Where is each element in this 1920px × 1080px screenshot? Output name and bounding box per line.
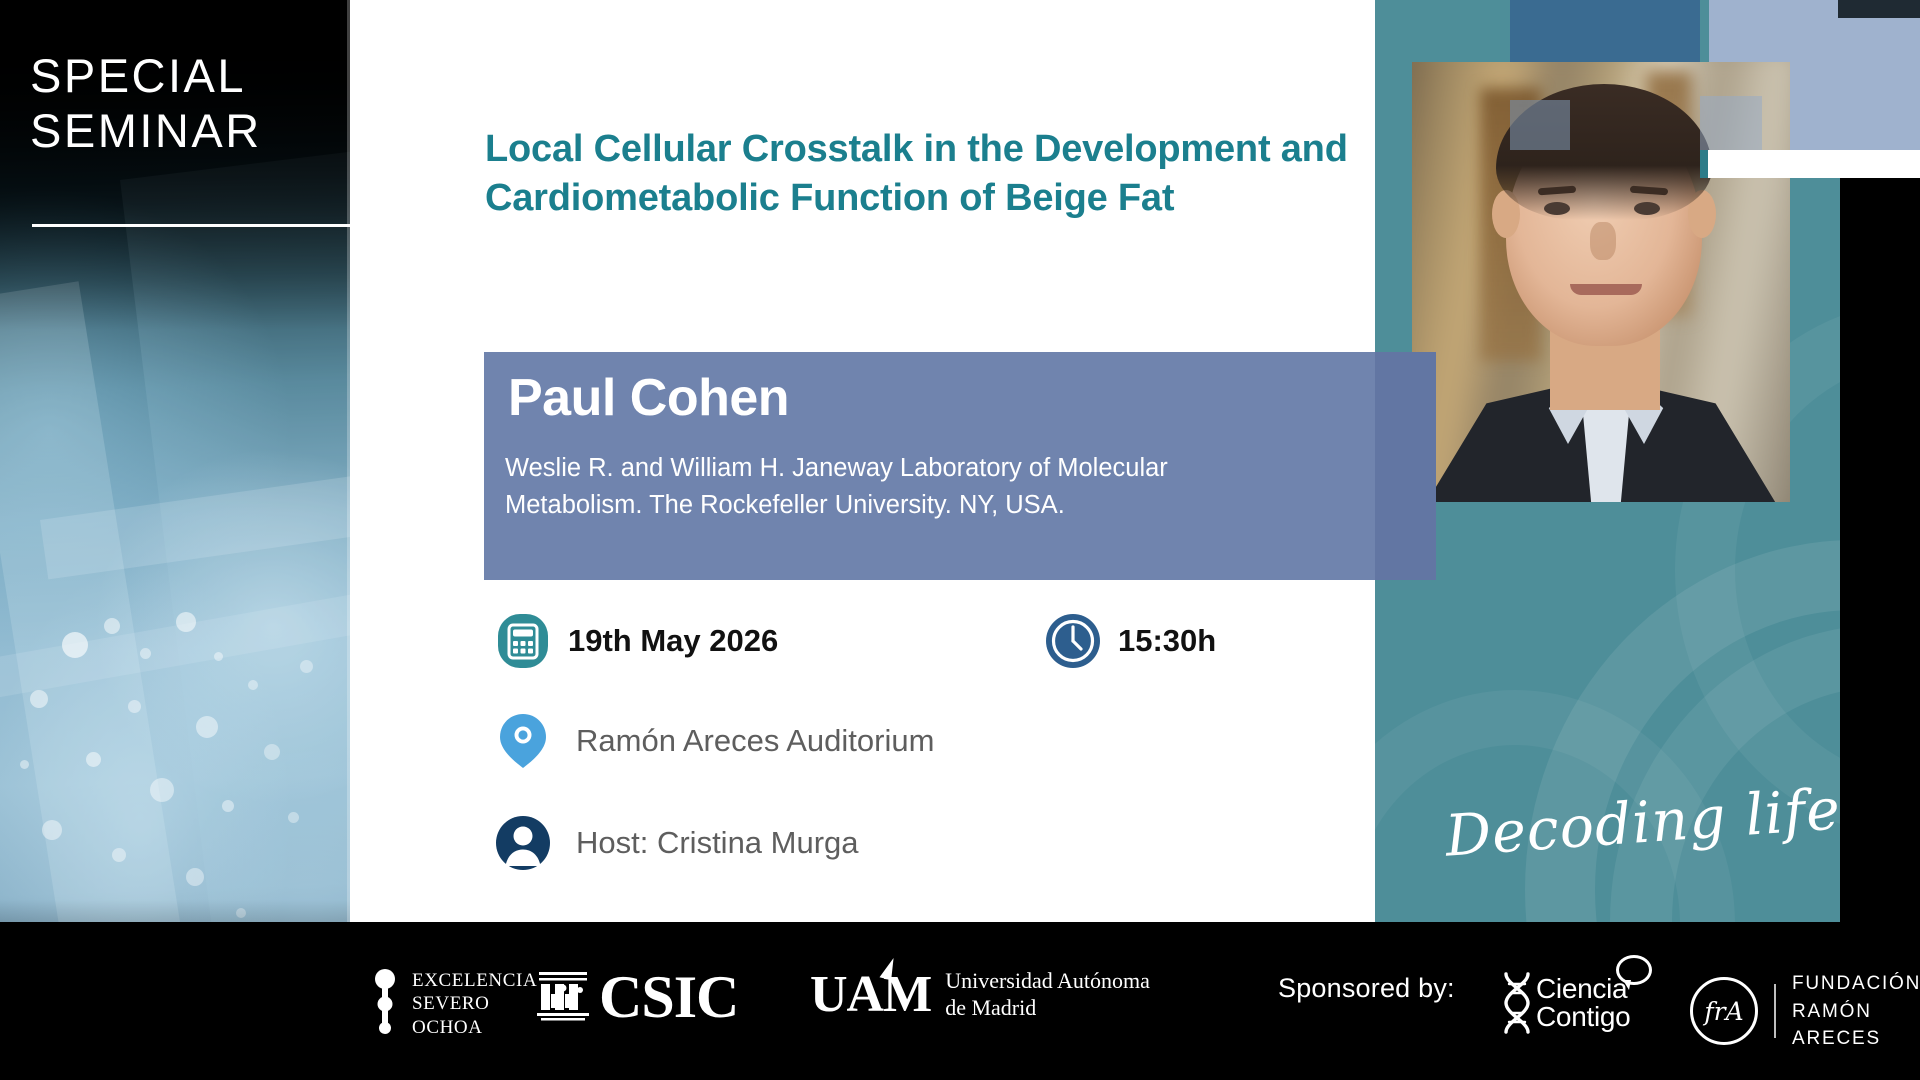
kicker-line-1: SPECIAL [30, 48, 330, 103]
portrait-nose [1590, 222, 1616, 260]
seminar-poster: SPECIAL SEMINAR CBM Severo Ochoa [0, 0, 1920, 1080]
detail-row-host: Host: Cristina Murga [492, 812, 859, 874]
portrait-eye [1544, 202, 1570, 215]
ciencia-line-2: Contigo [1536, 1003, 1630, 1031]
person-icon [492, 812, 554, 874]
fra-divider [1774, 984, 1776, 1038]
seminar-date: 19th May 2026 [568, 623, 778, 659]
corner-block-dark [1838, 0, 1920, 18]
corner-overlay-square [1700, 96, 1762, 158]
calendar-icon [492, 610, 554, 672]
corner-overlay-grey [1510, 100, 1570, 150]
severo-line-2: SEVERO [412, 992, 537, 1015]
fra-line-1: FUNDACIÓN [1792, 970, 1920, 998]
csic-crest-icon [535, 966, 591, 1028]
kicker-line-2: SEMINAR [30, 103, 330, 158]
map-pin-icon [492, 710, 554, 772]
clock-icon [1042, 610, 1104, 672]
corner-accent-white [1708, 150, 1920, 178]
sponsored-by-label: Sponsored by: [1278, 973, 1455, 1004]
logo-csic: CSIC [535, 966, 738, 1028]
portrait-mouth [1570, 284, 1642, 295]
footer-divider [350, 0, 353, 158]
seminar-kicker: SPECIAL SEMINAR [30, 48, 330, 159]
speaker-affiliation: Weslie R. and William H. Janeway Laborat… [505, 450, 1305, 523]
speaker-name: Paul Cohen [508, 368, 789, 428]
logo-severo-ochoa: EXCELENCIA SEVERO OCHOA [368, 968, 537, 1040]
seminar-venue: Ramón Areces Auditorium [576, 723, 934, 759]
dna-helix-icon [1500, 972, 1534, 1034]
logo-fundacion-ramon-areces: frA FUNDACIÓN RAMÓN ARECES [1690, 970, 1920, 1053]
seminar-host: Host: Cristina Murga [576, 825, 859, 861]
detail-row-time: 15:30h [1042, 610, 1216, 672]
fra-line-2: RAMÓN ARECES [1792, 998, 1920, 1053]
severo-line-1: EXCELENCIA [412, 969, 537, 992]
uam-line-2: de Madrid [945, 995, 1150, 1022]
logo-ciencia-contigo: Ciencia Contigo [1500, 972, 1630, 1034]
detail-row-venue: Ramón Areces Auditorium [492, 710, 934, 772]
csic-wordmark: CSIC [599, 967, 738, 1027]
kicker-underline [32, 224, 352, 227]
ciencia-line-1: Ciencia [1536, 975, 1630, 1003]
fra-monogram: frA [1690, 977, 1758, 1045]
uam-wordmark-wrap: UAM [810, 969, 931, 1021]
detail-row-date: 19th May 2026 [492, 610, 778, 672]
uam-wordmark: UAM [810, 966, 931, 1023]
seminar-time: 15:30h [1118, 623, 1216, 659]
severo-line-3: OCHOA [412, 1016, 537, 1039]
corner-accent-teal [1700, 150, 1708, 178]
portrait-eye [1634, 202, 1660, 215]
speaker-band-overlay [1375, 352, 1436, 580]
severo-ochoa-mark-icon [368, 968, 402, 1040]
uam-line-1: Universidad Autónoma [945, 968, 1150, 995]
logo-uam: UAM Universidad Autónoma de Madrid [810, 968, 1150, 1022]
left-sidebar [0, 0, 350, 1080]
talk-title: Local Cellular Crosstalk in the Developm… [485, 125, 1365, 222]
